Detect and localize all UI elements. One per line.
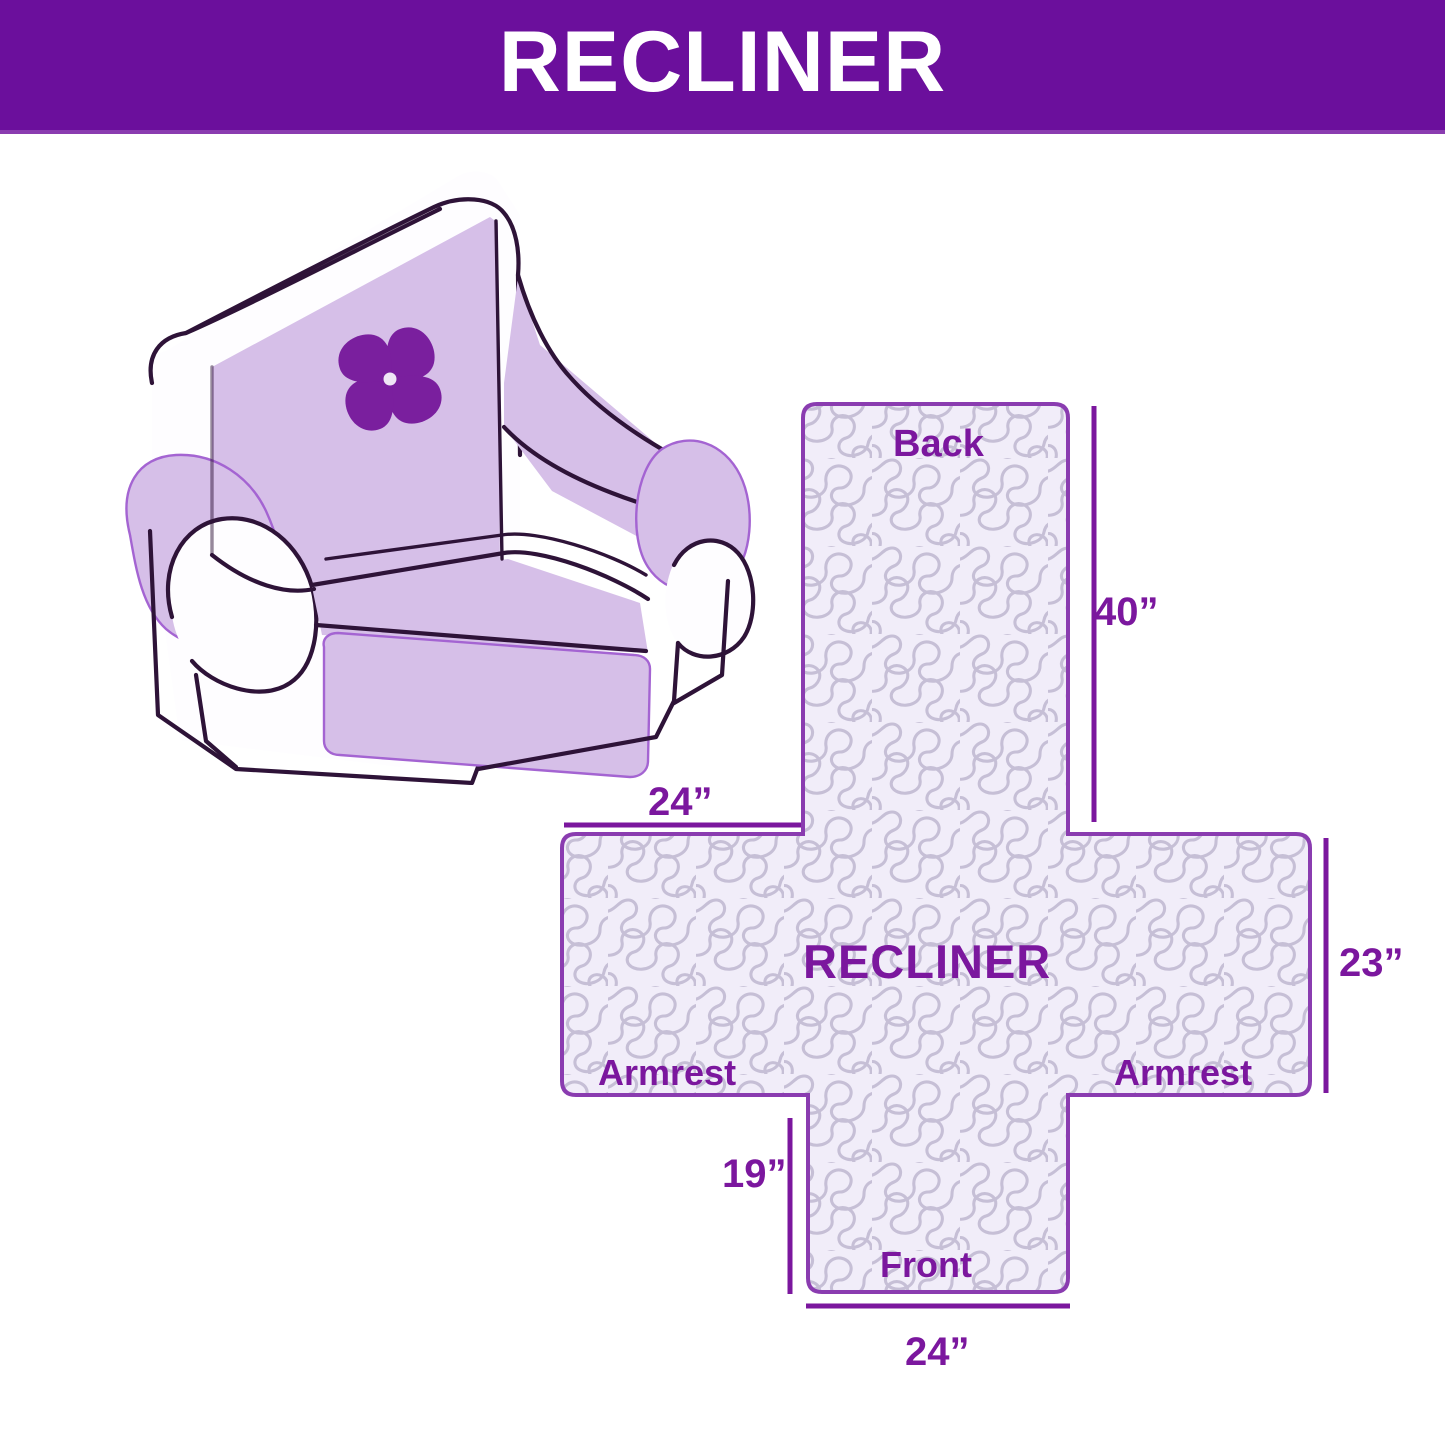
panel-label-armrest-right: Armrest	[1114, 1055, 1252, 1091]
cover-outline	[562, 404, 1310, 1292]
dimension-label-front-height: 19”	[722, 1154, 787, 1194]
slipcover-layout-diagram: .coveredge { fill:url(#quiltPattern); st…	[520, 370, 1445, 1400]
page-title: RECLINER	[499, 19, 947, 111]
panel-label-front: Front	[880, 1247, 972, 1283]
panel-label-armrest-left: Armrest	[598, 1055, 736, 1091]
dimension-label-front-width: 24”	[905, 1332, 970, 1372]
dimension-label-back-height: 40”	[1094, 592, 1159, 632]
product-size-chart-page: RECLINER .ol { fill:none; stroke:#2e1338…	[0, 0, 1445, 1445]
panel-label-center: RECLINER	[803, 938, 1051, 985]
header-divider	[0, 130, 1445, 134]
header-banner: RECLINER	[0, 0, 1445, 130]
panel-label-back: Back	[893, 425, 984, 463]
dimension-label-back-width: 24”	[648, 782, 713, 822]
dimension-label-armrest-span: 23”	[1339, 943, 1404, 983]
fan-pinwheel-icon	[338, 327, 441, 430]
